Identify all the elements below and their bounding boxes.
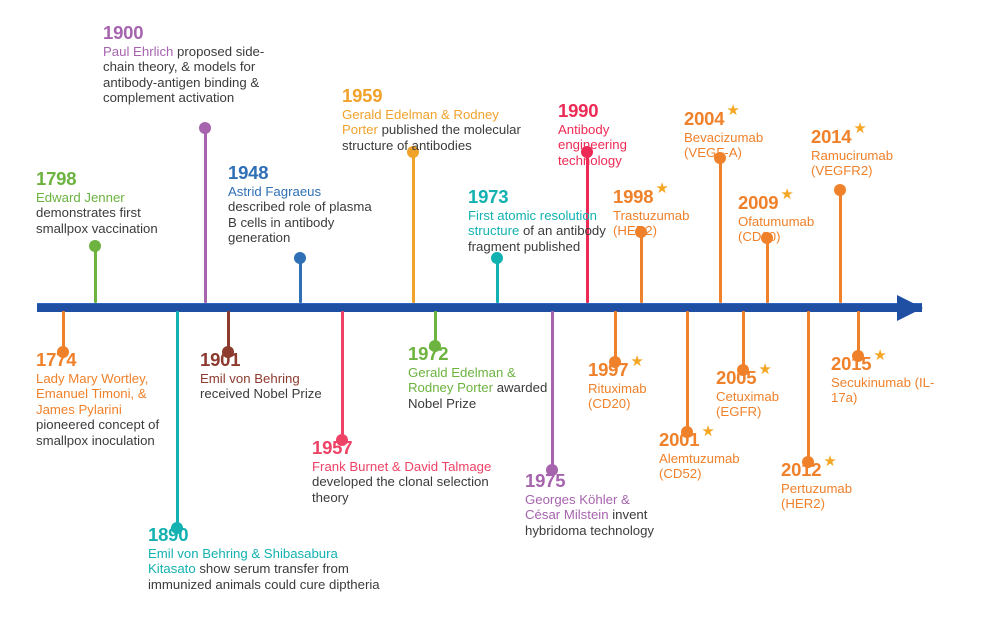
event-year: 2001★ xyxy=(659,429,769,450)
event-label: 1957Frank Burnet & David Talmage develop… xyxy=(312,437,492,505)
event-description-rest: described role of plasma B cells in anti… xyxy=(228,199,372,245)
event-year: 1990 xyxy=(558,100,666,121)
event-description-highlight: Rituximab (CD20) xyxy=(588,381,647,411)
event-description: Astrid Fagraeus described role of plasma… xyxy=(228,184,378,246)
star-icon: ★ xyxy=(726,103,739,118)
event-stem xyxy=(94,246,97,303)
event-year: 1975 xyxy=(525,470,665,491)
event-description-highlight: Alemtuzumab (CD52) xyxy=(659,451,740,481)
event-year: 1997★ xyxy=(588,359,692,380)
event-stem xyxy=(640,232,643,303)
event-description: Ramucirumab (VEGFR2) xyxy=(811,148,927,179)
event-description-highlight: Frank Burnet & David Talmage xyxy=(312,459,491,474)
event-label: 2015★Secukinumab (IL-17a) xyxy=(831,353,943,406)
event-description-highlight: Paul Ehrlich xyxy=(103,44,173,59)
event-description: Emil von Behring & Shibasabura Kitasato … xyxy=(148,546,380,592)
star-icon: ★ xyxy=(780,187,793,202)
event-year: 1959 xyxy=(342,85,524,106)
star-icon: ★ xyxy=(701,424,714,439)
event-description: Pertuzumab (HER2) xyxy=(781,481,889,512)
event-description-highlight: Ofatumumab (CD20) xyxy=(738,214,814,244)
event-description: Trastuzumab (HER2) xyxy=(613,208,721,239)
timeline-axis-arrow-icon xyxy=(897,295,923,321)
event-year: 1973 xyxy=(468,186,628,207)
event-description: First atomic resolution structure of an … xyxy=(468,208,628,254)
event-description: Rituximab (CD20) xyxy=(588,381,692,412)
event-year: 1901 xyxy=(200,349,328,370)
event-label: 2009★Ofatumumab (CD20) xyxy=(738,192,848,245)
event-year: 1774 xyxy=(36,349,168,370)
event-stem xyxy=(742,311,745,370)
event-label: 2014★Ramucirumab (VEGFR2) xyxy=(811,126,927,179)
event-stem xyxy=(496,258,499,303)
event-year: 1798 xyxy=(36,168,188,189)
event-stem xyxy=(204,128,207,303)
event-description: Cetuximab (EGFR) xyxy=(716,389,824,420)
star-icon: ★ xyxy=(630,354,643,369)
event-description-highlight: Ramucirumab (VEGFR2) xyxy=(811,148,893,178)
event-label: 1990Antibody engineering technology xyxy=(558,100,666,168)
event-description-highlight: Antibody engineering technology xyxy=(558,122,627,168)
event-label: 1948Astrid Fagraeus described role of pl… xyxy=(228,162,378,246)
event-label: 1901Emil von Behring received Nobel Priz… xyxy=(200,349,328,402)
event-description: Georges Köhler & César Milstein invent h… xyxy=(525,492,665,538)
star-icon: ★ xyxy=(655,181,668,196)
event-description-rest: received Nobel Prize xyxy=(200,386,322,401)
event-label: 2001★Alemtuzumab (CD52) xyxy=(659,429,769,482)
event-label: 1774Lady Mary Wortley, Emanuel Timoni, &… xyxy=(36,349,168,448)
event-label: 1973First atomic resolution structure of… xyxy=(468,186,628,254)
event-description-highlight: Trastuzumab (HER2) xyxy=(613,208,689,238)
timeline-axis-line xyxy=(37,303,922,312)
event-description: Frank Burnet & David Talmage developed t… xyxy=(312,459,492,505)
event-description-highlight: Lady Mary Wortley, Emanuel Timoni, & Jam… xyxy=(36,371,148,417)
event-label: 1890Emil von Behring & Shibasabura Kitas… xyxy=(148,524,380,592)
event-description: Lady Mary Wortley, Emanuel Timoni, & Jam… xyxy=(36,371,168,448)
event-description-highlight: Astrid Fagraeus xyxy=(228,184,321,199)
event-label: 1959Gerald Edelman & Rodney Porter publi… xyxy=(342,85,524,153)
event-year: 1998★ xyxy=(613,186,721,207)
event-stem xyxy=(299,258,302,303)
event-description-highlight: Cetuximab (EGFR) xyxy=(716,389,779,419)
event-description: Secukinumab (IL-17a) xyxy=(831,375,943,406)
event-description: Edward Jenner demonstrates first smallpo… xyxy=(36,190,188,236)
event-year: 2009★ xyxy=(738,192,848,213)
event-stem xyxy=(412,152,415,303)
event-dot[interactable] xyxy=(294,252,306,264)
event-description: Gerald Edelman & Rodney Porter published… xyxy=(342,107,524,153)
event-description: Gerald Edelman & Rodney Porter awarded N… xyxy=(408,365,558,411)
event-description-highlight: Emil von Behring xyxy=(200,371,300,386)
event-description-highlight: Pertuzumab (HER2) xyxy=(781,481,852,511)
event-description-rest: developed the clonal selection theory xyxy=(312,474,489,504)
event-description-highlight: Bevacizumab (VEGF-A) xyxy=(684,130,763,160)
event-description: Antibody engineering technology xyxy=(558,122,666,168)
star-icon: ★ xyxy=(853,121,866,136)
event-description-highlight: Secukinumab (IL-17a) xyxy=(831,375,934,405)
event-stem xyxy=(341,311,344,440)
event-stem xyxy=(614,311,617,362)
event-label: 1798Edward Jenner demonstrates first sma… xyxy=(36,168,188,236)
event-label: 1997★Rituximab (CD20) xyxy=(588,359,692,412)
event-description: Alemtuzumab (CD52) xyxy=(659,451,769,482)
event-description-rest: demonstrates first smallpox vaccination xyxy=(36,205,158,235)
event-year: 2004★ xyxy=(684,108,800,129)
event-year: 1890 xyxy=(148,524,380,545)
star-icon: ★ xyxy=(873,348,886,363)
event-label: 2005★Cetuximab (EGFR) xyxy=(716,367,824,420)
event-label: 2004★Bevacizumab (VEGF-A) xyxy=(684,108,800,161)
timeline-figure: 1774Lady Mary Wortley, Emanuel Timoni, &… xyxy=(0,0,985,636)
event-year: 2012★ xyxy=(781,459,889,480)
event-year: 2015★ xyxy=(831,353,943,374)
event-description: Bevacizumab (VEGF-A) xyxy=(684,130,800,161)
event-description: Emil von Behring received Nobel Prize xyxy=(200,371,328,402)
event-year: 1957 xyxy=(312,437,492,458)
event-stem xyxy=(176,311,179,528)
star-icon: ★ xyxy=(823,454,836,469)
event-year: 1972 xyxy=(408,343,558,364)
event-dot[interactable] xyxy=(89,240,101,252)
event-description-rest: pioneered concept of smallpox inoculatio… xyxy=(36,417,159,447)
event-label: 1972Gerald Edelman & Rodney Porter award… xyxy=(408,343,558,411)
event-label: 1998★Trastuzumab (HER2) xyxy=(613,186,721,239)
event-description: Ofatumumab (CD20) xyxy=(738,214,848,245)
event-year: 1948 xyxy=(228,162,378,183)
event-description: Paul Ehrlich proposed side-chain theory,… xyxy=(103,44,293,106)
star-icon: ★ xyxy=(758,362,771,377)
event-year: 2005★ xyxy=(716,367,824,388)
event-dot[interactable] xyxy=(199,122,211,134)
event-year: 1900 xyxy=(103,22,293,43)
event-stem xyxy=(766,238,769,303)
event-label: 1900Paul Ehrlich proposed side-chain the… xyxy=(103,22,293,106)
event-description-highlight: Edward Jenner xyxy=(36,190,125,205)
event-label: 2012★Pertuzumab (HER2) xyxy=(781,459,889,512)
event-label: 1975Georges Köhler & César Milstein inve… xyxy=(525,470,665,538)
event-year: 2014★ xyxy=(811,126,927,147)
